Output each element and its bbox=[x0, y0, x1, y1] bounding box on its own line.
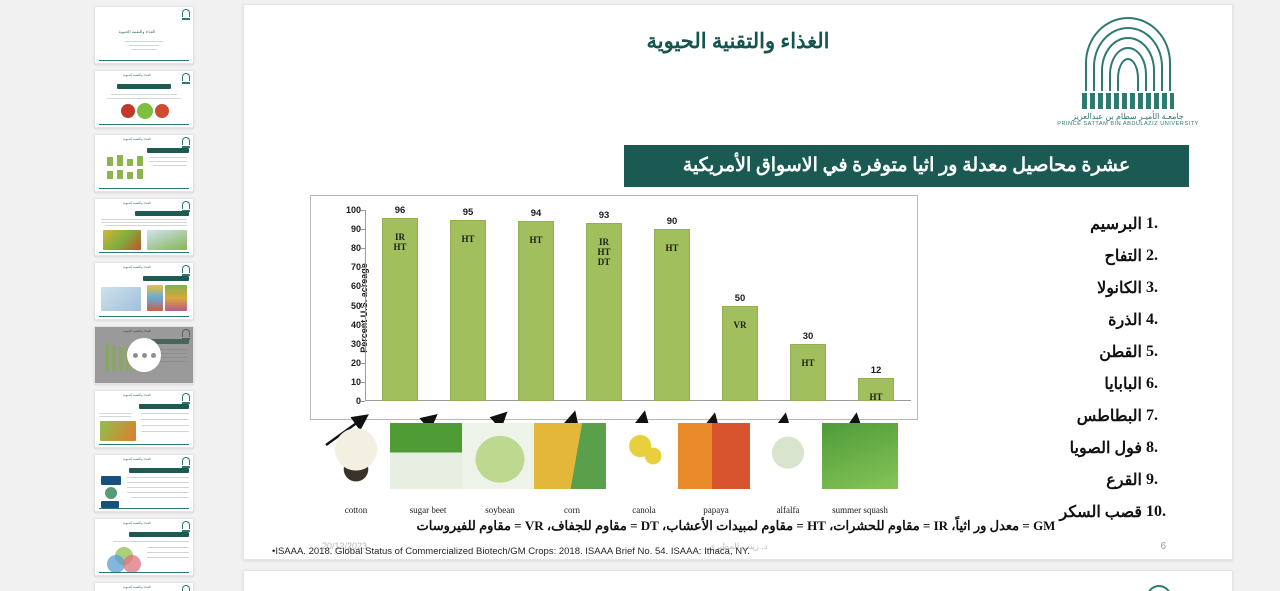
thumb-image bbox=[137, 103, 153, 119]
chart-bar-value: 95 bbox=[434, 207, 502, 218]
chart-bar-value: 50 bbox=[706, 293, 774, 304]
crop-photo-cell: summer squash bbox=[822, 423, 898, 515]
chart-bar-value: 30 bbox=[774, 331, 842, 342]
list-item: 9. القرع bbox=[1005, 464, 1180, 496]
crop-photo-cotton bbox=[318, 423, 394, 489]
thumbnail-slide-8[interactable]: الغذاء والتقنية الحيوية bbox=[94, 454, 194, 512]
chart-y-tick: 40 bbox=[331, 320, 361, 330]
slide-page-number: 6 bbox=[1160, 541, 1166, 552]
thumbnail-slide-9[interactable]: الغذاء والتقنية الحيوية bbox=[94, 518, 194, 576]
thumbnail-slide-5[interactable]: الغذاء والتقنية الحيوية bbox=[94, 262, 194, 320]
chart-y-tick: 70 bbox=[331, 262, 361, 272]
chart-bar-value: 94 bbox=[502, 208, 570, 219]
chart-bar-group: HT90 bbox=[638, 210, 706, 401]
crop-photo-cell: sugar beet bbox=[390, 423, 466, 515]
list-item-label: البطاطس bbox=[1005, 406, 1146, 426]
thumb-image bbox=[100, 421, 136, 441]
logo-wordmark-icon bbox=[1082, 93, 1174, 109]
chart-y-tick-mark bbox=[361, 229, 365, 230]
list-item-number: 2. bbox=[1146, 247, 1180, 265]
crop-photo-cell: alfalfa bbox=[750, 423, 826, 515]
reference-citation: •ISAAA. 2018. Global Status of Commercia… bbox=[272, 546, 750, 557]
thumb-image bbox=[103, 230, 141, 250]
crop-photo-cell: cotton bbox=[318, 423, 394, 515]
crop-photo-cell: papaya bbox=[678, 423, 754, 515]
chart-plot-area: IRHT96HT95HT94IRHTDT93HT90VR50HT30HT12 bbox=[366, 210, 911, 401]
thumb-title: الغذاء والتقنية الحيوية bbox=[95, 329, 179, 333]
thumb-title: الغذاء والتقنية الحيوية bbox=[95, 585, 179, 589]
chart-bar-group: HT12 bbox=[842, 210, 910, 401]
thumb-image-seal bbox=[105, 487, 117, 499]
chart-bar-trait-label: HT bbox=[790, 358, 826, 368]
bar-chart: Percent U.S. acreage IRHT96HT95HT94IRHTD… bbox=[310, 195, 918, 420]
thumb-title: الغذاء والتقنية الحيوية bbox=[95, 393, 179, 397]
list-item: 6. البابايا bbox=[1005, 368, 1180, 400]
crop-photo-papaya bbox=[678, 423, 754, 489]
thumbnail-slide-2[interactable]: الغذاء والتقنية الحيوية bbox=[94, 70, 194, 128]
thumb-title: الغذاء والتقنية الحيوية bbox=[95, 137, 179, 141]
crop-list: 1. البرسيم 2. التفاح 3. الكانولا 4. الذر… bbox=[1005, 208, 1180, 528]
trait-legend: GM = معدل ور اثياً، IR = مقاوم للحشرات، … bbox=[254, 518, 1218, 534]
chart-bar-trait-label: IRHTDT bbox=[586, 237, 622, 267]
chart-bar-value: 12 bbox=[842, 365, 910, 376]
chart-bar-group: IRHT96 bbox=[366, 210, 434, 401]
chart-bar-value: 90 bbox=[638, 216, 706, 227]
next-slide-canvas[interactable] bbox=[243, 570, 1233, 591]
crop-photo-corn bbox=[534, 423, 610, 489]
list-item-number: 3. bbox=[1146, 279, 1180, 297]
thumb-image bbox=[147, 285, 163, 311]
chart-y-tick: 50 bbox=[331, 301, 361, 311]
chart-bar bbox=[654, 229, 690, 401]
thumb-image-usda bbox=[101, 476, 121, 485]
thumb-logo-icon bbox=[182, 521, 190, 532]
thumbnail-slide-4[interactable]: الغذاء والتقنية الحيوية bbox=[94, 198, 194, 256]
chart-bar-trait-label: HT bbox=[518, 235, 554, 245]
chart-y-tick-mark bbox=[361, 382, 365, 383]
crop-photo-cell: corn bbox=[534, 423, 610, 515]
thumb-logo-icon bbox=[182, 9, 190, 20]
list-item-label: القطن bbox=[1005, 342, 1146, 362]
chart-y-tick: 90 bbox=[331, 224, 361, 234]
list-item: 1. البرسيم bbox=[1005, 208, 1180, 240]
chart-y-tick-mark bbox=[361, 325, 365, 326]
loading-spinner-icon bbox=[127, 338, 161, 372]
thumb-logo-icon bbox=[182, 457, 190, 468]
slide-canvas: الغذاء والتقنية الحيوية جامعـة الأميـر س… bbox=[243, 4, 1233, 560]
list-item-number: 9. bbox=[1146, 471, 1180, 489]
chart-bar-value: 93 bbox=[570, 210, 638, 221]
thumb-logo-icon bbox=[182, 585, 190, 591]
list-item-label: القرع bbox=[1005, 470, 1146, 490]
chart-bar-trait-label: IRHT bbox=[382, 232, 418, 252]
chart-y-tick: 10 bbox=[331, 377, 361, 387]
list-item-label: البرسيم bbox=[1005, 214, 1146, 234]
thumb-image bbox=[165, 285, 187, 311]
thumb-logo-icon bbox=[182, 73, 190, 84]
crop-photo-alfalfa bbox=[750, 423, 826, 489]
list-item: 8. فول الصويا bbox=[1005, 432, 1180, 464]
university-logo: جامعـة الأميـر سطام بن عبدالعزيز PRINCE … bbox=[1052, 13, 1204, 131]
crop-photo-summer-squash bbox=[822, 423, 898, 489]
crop-photo-canola bbox=[606, 423, 682, 489]
chart-bar bbox=[450, 220, 486, 401]
chart-bar-trait-label: HT bbox=[654, 243, 690, 253]
thumbnail-slide-10[interactable]: الغذاء والتقنية الحيوية bbox=[94, 582, 194, 591]
crop-photo-cell: soybean bbox=[462, 423, 538, 515]
thumb-title: الغذاء والتقنية الحيوية bbox=[95, 73, 179, 77]
list-item: 2. التفاح bbox=[1005, 240, 1180, 272]
crop-photo-strip: cottonsugar beetsoybeancorncanolapapayaa… bbox=[310, 423, 918, 515]
thumb-title: الغذاء والتقنية الحيوية bbox=[95, 29, 179, 34]
list-item: 3. الكانولا bbox=[1005, 272, 1180, 304]
thumbnail-slide-1[interactable]: الغذاء والتقنية الحيوية bbox=[94, 6, 194, 64]
thumb-logo-icon bbox=[182, 137, 190, 148]
chart-bar-trait-label: VR bbox=[722, 320, 758, 330]
thumbnail-slide-7[interactable]: الغذاء والتقنية الحيوية bbox=[94, 390, 194, 448]
chart-x-tick-label: summer squash bbox=[818, 505, 902, 515]
thumbnail-slide-6-selected[interactable]: الغذاء والتقنية الحيوية bbox=[94, 326, 194, 384]
chart-y-tick-mark bbox=[361, 248, 365, 249]
arch-icon bbox=[1146, 585, 1172, 591]
thumb-logo-icon bbox=[182, 265, 190, 276]
chart-bar-group: HT30 bbox=[774, 210, 842, 401]
thumb-image bbox=[101, 287, 141, 311]
thumb-image bbox=[147, 230, 187, 250]
chart-y-tick: 80 bbox=[331, 243, 361, 253]
chart-bar-group: IRHTDT93 bbox=[570, 210, 638, 401]
list-item-number: 7. bbox=[1146, 407, 1180, 425]
list-item-number: 4. bbox=[1146, 311, 1180, 329]
chart-bar-trait-label: HT bbox=[450, 234, 486, 244]
thumb-image bbox=[123, 555, 141, 573]
thumb-title: الغذاء والتقنية الحيوية bbox=[95, 265, 179, 269]
logo-arabic-name: جامعـة الأميـر سطام بن عبدالعزيز bbox=[1052, 112, 1204, 121]
list-item-label: التفاح bbox=[1005, 246, 1146, 266]
list-item: 4. الذرة bbox=[1005, 304, 1180, 336]
chart-y-tick: 20 bbox=[331, 358, 361, 368]
chart-y-tick: 30 bbox=[331, 339, 361, 349]
chart-y-tick: 60 bbox=[331, 281, 361, 291]
crop-photo-cell: canola bbox=[606, 423, 682, 515]
list-item-label: الذرة bbox=[1005, 310, 1146, 330]
list-item: 7. البطاطس bbox=[1005, 400, 1180, 432]
chart-y-tick: 100 bbox=[331, 205, 361, 215]
chart-y-tick-mark bbox=[361, 210, 365, 211]
thumb-logo-icon bbox=[182, 393, 190, 404]
section-banner-label: عشرة محاصيل معدلة ور اثيا متوفرة في الاس… bbox=[624, 145, 1189, 187]
arch-icon bbox=[1085, 17, 1171, 91]
list-item-label: الكانولا bbox=[1005, 278, 1146, 298]
chart-bar-group: HT94 bbox=[502, 210, 570, 401]
list-item: 5. القطن bbox=[1005, 336, 1180, 368]
section-banner: عشرة محاصيل معدلة ور اثيا متوفرة في الاس… bbox=[624, 145, 1189, 187]
logo-english-name: PRINCE SATTAM BIN ABDULAZIZ UNIVERSITY bbox=[1052, 121, 1204, 127]
thumbnail-rail[interactable]: الغذاء والتقنية الحيوية الغذاء والتقنية … bbox=[85, 0, 203, 591]
list-item-number: 5. bbox=[1146, 343, 1180, 361]
chart-bar bbox=[518, 221, 554, 401]
thumb-title: الغذاء والتقنية الحيوية bbox=[95, 521, 179, 525]
list-item-number: 1. bbox=[1146, 215, 1180, 233]
thumb-image bbox=[155, 104, 169, 118]
thumb-title: الغذاء والتقنية الحيوية bbox=[95, 201, 179, 205]
thumbnail-slide-3[interactable]: الغذاء والتقنية الحيوية bbox=[94, 134, 194, 192]
chart-bar-value: 96 bbox=[366, 205, 434, 216]
chart-bar-group: HT95 bbox=[434, 210, 502, 401]
chart-bar bbox=[790, 344, 826, 401]
crop-photo-soybean bbox=[462, 423, 538, 489]
chart-y-tick-mark bbox=[361, 267, 365, 268]
thumb-image bbox=[121, 104, 135, 118]
list-item-label: فول الصويا bbox=[1005, 438, 1146, 458]
list-item-number: 8. bbox=[1146, 439, 1180, 457]
chart-bar-group: VR50 bbox=[706, 210, 774, 401]
chart-y-tick-mark bbox=[361, 286, 365, 287]
list-item-label: البابايا bbox=[1005, 374, 1146, 394]
list-item-number: 6. bbox=[1146, 375, 1180, 393]
thumb-title: الغذاء والتقنية الحيوية bbox=[95, 457, 179, 461]
chart-y-tick-mark bbox=[361, 344, 365, 345]
viewer-app: الغذاء والتقنية الحيوية الغذاء والتقنية … bbox=[0, 0, 1280, 591]
chart-y-tick-mark bbox=[361, 363, 365, 364]
crop-photo-sugar-beet bbox=[390, 423, 466, 489]
chart-y-tick-mark bbox=[361, 306, 365, 307]
